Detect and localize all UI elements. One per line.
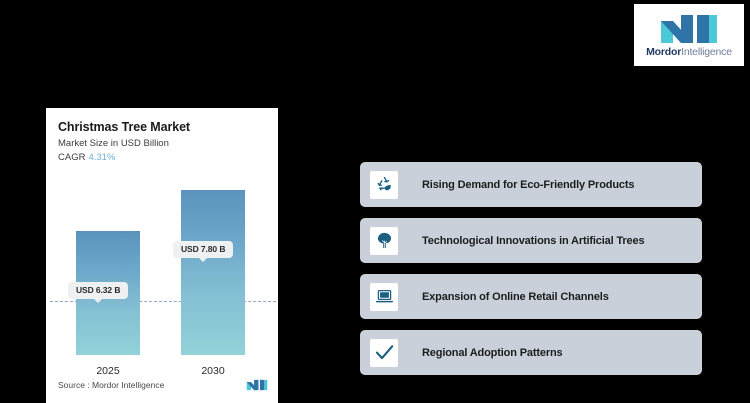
brand-word-secondary: Intelligence [681,46,732,58]
brand-wordmark: MordorIntelligence [646,47,732,58]
brand-word-primary: Mordor [646,46,681,58]
driver-card-regional-adoption[interactable]: Regional Adoption Patterns [360,330,702,375]
screenshot-root: MordorIntelligence Christmas Tree Market… [0,0,750,403]
chart-title: Christmas Tree Market [58,120,266,134]
driver-label: Expansion of Online Retail Channels [422,291,609,303]
chart-cagr-row: CAGR4.31% [58,152,266,163]
value-label-2030: USD 7.80 B [173,241,233,258]
bar-2030 [181,190,245,355]
x-axis-label-2030: 2030 [181,365,245,377]
driver-label: Technological Innovations in Artificial … [422,235,644,247]
driver-label: Regional Adoption Patterns [422,347,563,359]
cagr-label: CAGR [58,152,85,163]
drivers-list: Rising Demand for Eco-Friendly Products … [360,162,702,386]
value-label-2025: USD 6.32 B [68,282,128,299]
chart-subtitle: Market Size in USD Billion [58,138,266,149]
mordor-m-mark-icon [659,13,719,45]
x-axis-label-2025: 2025 [76,365,140,377]
checkmark-icon [370,339,398,367]
mordor-m-mark-small-icon [246,379,268,391]
tree-icon [370,227,398,255]
chart-card: Christmas Tree Market Market Size in USD… [46,108,278,403]
laptop-icon [370,283,398,311]
recycle-leaf-icon [370,171,398,199]
driver-card-eco-friendly[interactable]: Rising Demand for Eco-Friendly Products [360,162,702,207]
source-text: Source : Mordor Intelligence [58,380,164,390]
chart-plot-area: USD 6.32 B USD 7.80 B 2025 2030 [46,178,278,403]
brand-logo: MordorIntelligence [634,4,744,66]
driver-card-artificial-trees[interactable]: Technological Innovations in Artificial … [360,218,702,263]
source-row: Source : Mordor Intelligence [58,379,268,391]
cagr-value: 4.31% [88,152,115,163]
driver-label: Rising Demand for Eco-Friendly Products [422,179,634,191]
driver-card-online-retail[interactable]: Expansion of Online Retail Channels [360,274,702,319]
